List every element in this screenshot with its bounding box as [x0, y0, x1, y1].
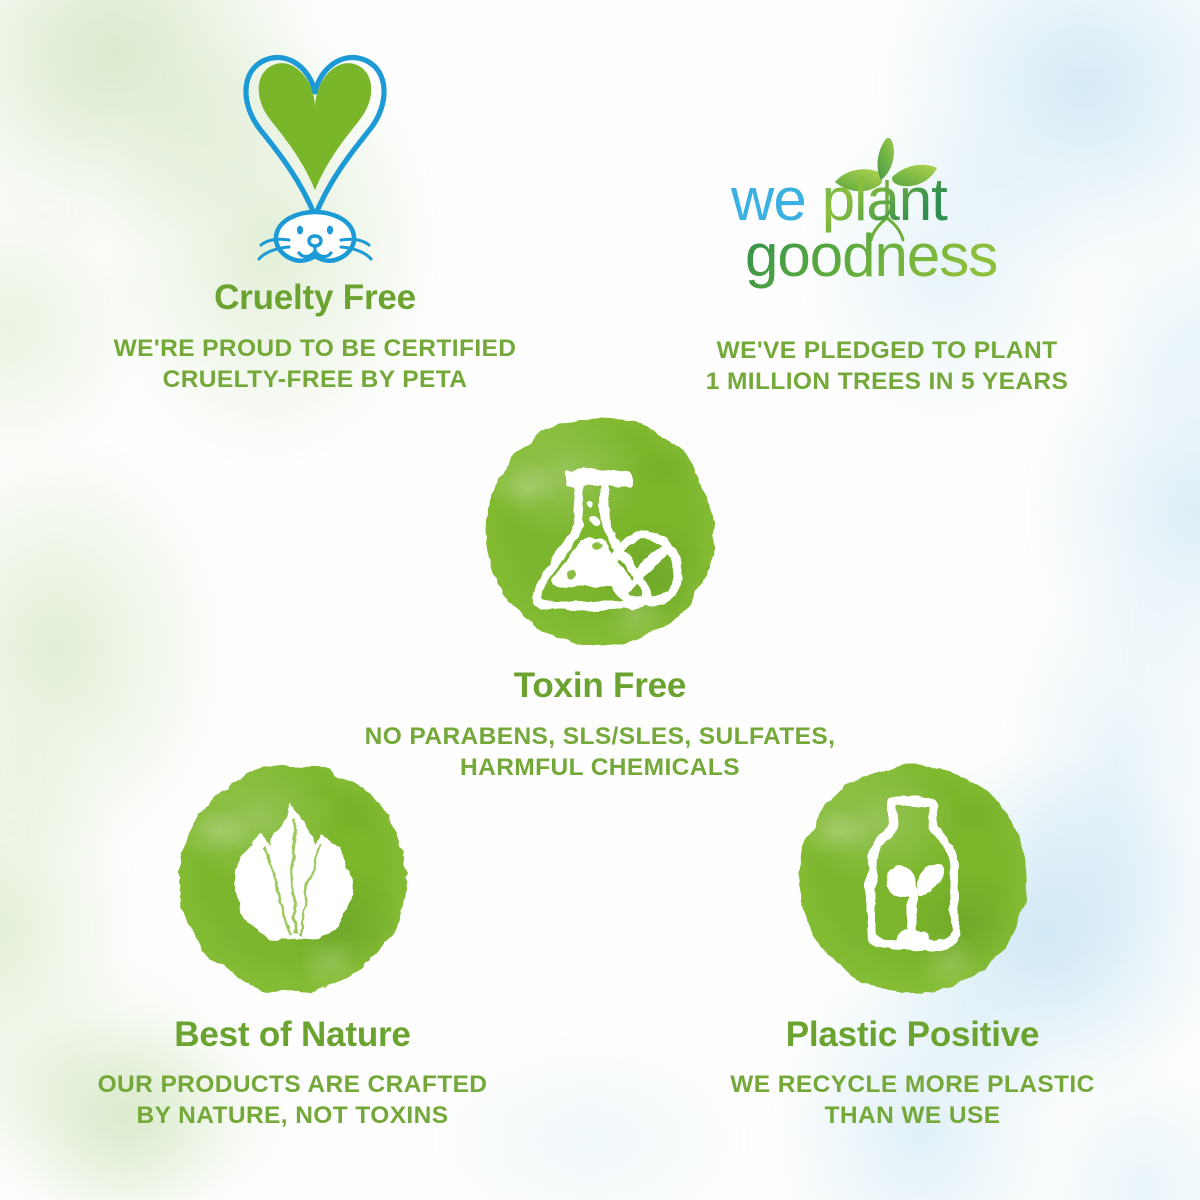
toxin-free-icon-wrap: [335, 418, 865, 646]
three-leaves-icon: [179, 765, 407, 993]
best-of-nature-icon-wrap: [25, 765, 560, 993]
we-plant-goodness-logo: weplant goodness: [717, 120, 1057, 295]
badge-description-line: WE RECYCLE MORE PLASTIC: [645, 1070, 1180, 1101]
cruelty-free-icon-wrap: [45, 30, 585, 270]
badge-title: Best of Nature: [25, 1017, 560, 1052]
badge-description: WE RECYCLE MORE PLASTIC THAN WE USE: [645, 1070, 1180, 1131]
badge-description-line: No PARABENS, SLS/SLES, SULFATES,: [335, 722, 865, 753]
logo-line-2: goodness: [745, 222, 997, 289]
badge-description: WE'VE PLEDGED TO PLANT 1 MILLION TREES I…: [622, 336, 1152, 397]
plastic-positive-icon-wrap: [645, 765, 1180, 993]
badge-description-line: THAN WE USE: [645, 1101, 1180, 1132]
watercolor-disc: [486, 418, 714, 646]
badge-description-line: WE'VE PLEDGED TO PLANT: [622, 336, 1152, 367]
badge-cruelty-free: Cruelty Free WE'RE PROUD TO BE CERTIFIED…: [45, 30, 585, 395]
badge-description: WE'RE PROUD TO BE CERTIFIED CRUELTY-FREE…: [45, 334, 585, 395]
badge-title: Toxin Free: [335, 668, 865, 703]
badge-toxin-free: Toxin Free No PARABENS, SLS/SLES, SULFAT…: [335, 418, 865, 783]
badge-title: Plastic Positive: [645, 1017, 1180, 1052]
badge-description: OUR PRODUCTS ARE CRAFTED BY NATURE, NOT …: [25, 1070, 560, 1131]
badge-description-line: WE'RE PROUD TO BE CERTIFIED: [45, 334, 585, 365]
bottle-sprout-icon: [799, 765, 1027, 993]
peta-bunny-heart-icon: [215, 30, 415, 270]
badge-description-line: BY NATURE, NOT TOXINS: [25, 1101, 560, 1132]
flask-no-entry-icon: [486, 418, 714, 646]
badge-best-of-nature: Best of Nature OUR PRODUCTS ARE CRAFTED …: [25, 765, 560, 1131]
badge-title: Cruelty Free: [45, 280, 585, 315]
badge-we-plant-goodness: weplant goodness we plant goodness WE'VE…: [622, 120, 1152, 397]
infographic-canvas: Cruelty Free WE'RE PROUD TO BE CERTIFIED…: [0, 0, 1200, 1200]
badge-description-line: CRUELTY-FREE BY PETA: [45, 365, 585, 396]
badge-description-line: OUR PRODUCTS ARE CRAFTED: [25, 1070, 560, 1101]
watercolor-disc: [179, 765, 407, 993]
badge-description-line: 1 MILLION TREES IN 5 YEARS: [622, 367, 1152, 398]
badge-plastic-positive: Plastic Positive WE RECYCLE MORE PLASTIC…: [645, 765, 1180, 1131]
watercolor-disc: [799, 765, 1027, 993]
